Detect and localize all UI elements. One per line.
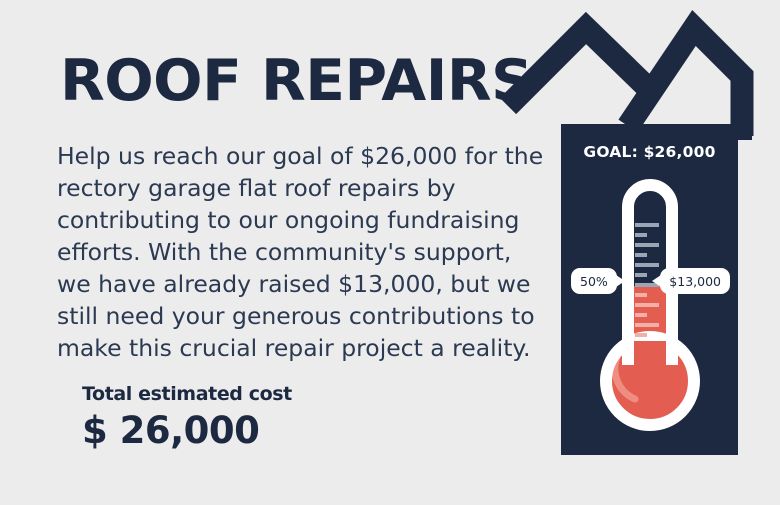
total-cost-block: Total estimated cost $ 26,000: [82, 383, 292, 452]
goal-label: GOAL: $26,000: [561, 143, 738, 161]
callout-percent: 50%: [571, 268, 617, 294]
roof-outline-icon: [498, 8, 780, 140]
total-cost-label: Total estimated cost: [82, 383, 292, 405]
page-title: ROOF REPAIRS: [60, 50, 532, 112]
thermometer-panel: GOAL: $26,000: [561, 124, 738, 455]
callout-amount: $13,000: [660, 268, 730, 294]
total-cost-amount: $ 26,000: [82, 409, 292, 452]
thermometer-icon: [589, 169, 711, 441]
body-paragraph: Help us reach our goal of $26,000 for th…: [57, 140, 545, 364]
poster-canvas: ROOF REPAIRS Help us reach our goal of $…: [0, 0, 780, 505]
